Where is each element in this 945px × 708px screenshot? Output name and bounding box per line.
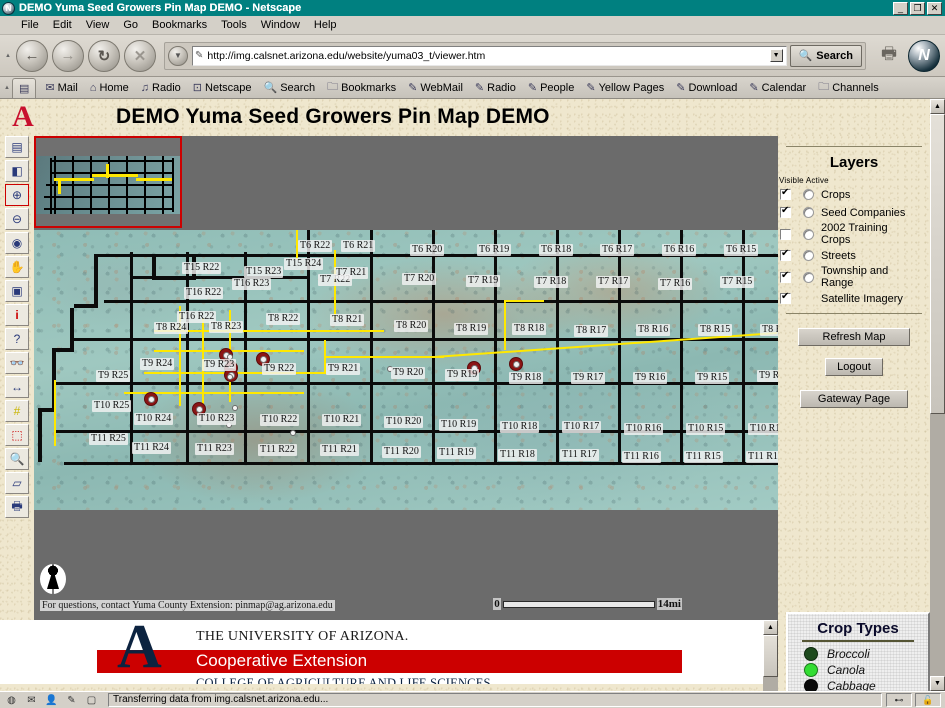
township-label: T11 R21 <box>320 444 359 456</box>
active-radio-2002-training-crops[interactable] <box>803 229 814 240</box>
township-label: T15 R23 <box>244 266 283 278</box>
visible-checkbox-crops[interactable] <box>780 189 791 200</box>
bookmark-icon: ✎ <box>408 81 417 94</box>
visible-checkbox-2002-training-crops[interactable] <box>780 229 791 240</box>
toolbar-item-radio[interactable]: ♫ Radio <box>135 82 187 94</box>
township-label: T11 R20 <box>382 446 421 458</box>
close-button[interactable]: ✕ <box>927 2 942 15</box>
township-label: T6 R20 <box>410 244 444 256</box>
folder-icon: 🗀 <box>818 78 829 97</box>
township-label: T8 R18 <box>512 323 546 335</box>
township-label: T11 R14 <box>746 451 778 463</box>
visible-checkbox-township-and-range[interactable] <box>780 272 791 283</box>
back-icon[interactable]: ← <box>16 40 48 72</box>
print-tool[interactable]: 🖶 <box>5 496 29 518</box>
township-label: T8 R24 <box>154 322 188 334</box>
township-label: T9 R25 <box>96 370 130 382</box>
crop-point-marker[interactable] <box>290 430 296 436</box>
township-label: T10 R19 <box>439 419 478 431</box>
menu-file[interactable]: File <box>14 18 46 32</box>
map-scale-bar: 0 14mi <box>493 598 682 610</box>
page-scroll-up-arrow-icon[interactable]: ▲ <box>930 99 945 114</box>
menu-tools[interactable]: Tools <box>214 18 254 32</box>
status-bar: ◍ ✉ 👤 ✎ ▢ Transferring data from img.cal… <box>0 691 945 708</box>
layer-row-crops: Crops <box>780 186 930 203</box>
toolbar-label: People <box>540 82 574 94</box>
township-label: T8 R14 <box>760 324 778 336</box>
township-label: T9 R16 <box>633 372 667 384</box>
bookmark-icon: ✎ <box>528 81 537 94</box>
township-label: T10 R22 <box>260 414 299 426</box>
gateway-page-button[interactable]: Gateway Page <box>800 390 908 408</box>
layer-tool[interactable]: ◧ <box>5 160 29 182</box>
netscape-status-icon[interactable]: ◍ <box>3 693 20 707</box>
legend-title: Crop Types <box>788 620 928 637</box>
visible-active-header: Visible Active <box>779 176 930 185</box>
page-vertical-scrollbar[interactable]: ▲ ▼ <box>930 99 945 691</box>
layer-row-2002-training-crops: 2002 Training Crops <box>780 222 930 246</box>
scroll-up-arrow-icon[interactable]: ▲ <box>763 620 778 635</box>
find-tool[interactable]: 👓 <box>5 352 29 374</box>
township-label: T10 R25 <box>92 400 131 412</box>
legend-swatch-canola <box>804 663 818 677</box>
toolbar-item-bookmarks[interactable]: 🗀 Bookmarks <box>321 78 402 97</box>
township-label: T10 R16 <box>624 423 663 435</box>
print-icon[interactable]: 🖶 <box>874 41 904 71</box>
panel-divider-bottom <box>786 313 922 314</box>
page-scroll-down-arrow-icon[interactable]: ▼ <box>930 676 945 691</box>
netscape-window: N DEMO Yuma Seed Growers Pin Map DEMO - … <box>0 0 945 708</box>
legend-swatch-cabbage <box>804 679 818 691</box>
township-label: T6 R15 <box>724 244 758 256</box>
township-label: T11 R23 <box>195 443 234 455</box>
toolbar-label: Radio <box>487 82 516 94</box>
university-of-arizona-logo: A <box>6 101 40 133</box>
township-label: T6 R19 <box>477 244 511 256</box>
township-label: T8 R22 <box>266 313 300 325</box>
toolbar-item-netscape[interactable]: ⊡ Netscape <box>187 81 258 94</box>
toolbar-label: Bookmarks <box>341 82 396 94</box>
toolbar-label: WebMail <box>420 82 463 94</box>
sidebar-tab-button[interactable]: ▤ <box>12 78 36 98</box>
township-label: T8 R20 <box>394 320 428 332</box>
personal-toolbar: ▤ ✉ Mail ⌂ Home ♫ Radio ⊡ Netscape 🔍 Sea… <box>0 77 945 99</box>
active-radio-seed-companies[interactable] <box>803 207 814 218</box>
netscape-n-logo[interactable]: N <box>908 40 940 72</box>
seed-company-pin[interactable] <box>144 392 158 406</box>
frame-vertical-scrollbar[interactable]: ▲ ▼ <box>763 620 778 691</box>
township-label: T11 R25 <box>89 433 128 445</box>
search-icon: 🔍 <box>264 81 278 94</box>
map-footnote: For questions, contact Yuma County Exten… <box>40 600 335 611</box>
frame-vscroll-track[interactable] <box>763 635 778 691</box>
menu-bookmarks[interactable]: Bookmarks <box>145 18 214 32</box>
toolbar-item-yellow-pages[interactable]: ✎ Yellow Pages <box>580 81 670 94</box>
township-label: T8 R17 <box>574 325 608 337</box>
township-label: T7 R17 <box>596 276 630 288</box>
page-header: A DEMO Yuma Seed Growers Pin Map DEMO <box>0 99 930 134</box>
township-label: T10 R18 <box>500 421 539 433</box>
layer-row-seed-companies: Seed Companies <box>780 204 930 221</box>
township-label: T10 R14 <box>748 423 778 435</box>
select-feature-tool[interactable]: 🔍 <box>5 448 29 470</box>
page-vscroll-track[interactable] <box>930 114 945 676</box>
legend-divider <box>802 640 914 642</box>
menu-go[interactable]: Go <box>116 18 145 32</box>
legend-label-broccoli: Broccoli <box>827 647 870 661</box>
connection-icon[interactable]: ⊷ <box>886 693 912 707</box>
window-title-bar: N DEMO Yuma Seed Growers Pin Map DEMO - … <box>0 0 945 16</box>
layers-panel: Layers Visible Active Crops Seed Compani… <box>778 136 930 620</box>
township-label: T7 R15 <box>720 276 754 288</box>
search-button[interactable]: 🔍 Search <box>790 45 862 67</box>
search-icon: 🔍 <box>799 49 813 62</box>
bookmark-pencil-icon: ✎ <box>195 50 203 61</box>
personal-toolbar-grip[interactable] <box>2 79 12 97</box>
toolbar-item-download[interactable]: ✎ Download <box>670 81 743 94</box>
window-status-icon[interactable]: ▢ <box>83 693 100 707</box>
township-label: T11 R18 <box>498 449 537 461</box>
township-label: T9 R15 <box>695 372 729 384</box>
menu-view[interactable]: View <box>79 18 117 32</box>
township-label: T9 R21 <box>326 363 360 375</box>
url-history-arrow-icon[interactable]: ▼ <box>770 49 783 62</box>
banner-line-university: THE UNIVERSITY OF ARIZONA. <box>196 629 409 645</box>
township-label: T8 R23 <box>209 321 243 333</box>
township-label: T6 R22 <box>298 240 332 252</box>
layer-label-crops[interactable]: Crops <box>821 189 850 201</box>
legend-item-broccoli: Broccoli <box>788 646 928 662</box>
legend-label-cabbage: Cabbage <box>827 679 876 691</box>
web-page-content: A DEMO Yuma Seed Growers Pin Map DEMO ▤ … <box>0 99 945 691</box>
township-label: T9 R14 <box>757 370 778 382</box>
navigation-toolbar: ← → ↻ ✕ ▼ ✎ http://img.calsnet.arizona.e… <box>0 35 945 77</box>
bookmark-icon: ✎ <box>749 81 758 94</box>
netscape-icon: N <box>2 2 15 15</box>
crop-point-marker[interactable] <box>227 374 233 380</box>
township-label: T10 R23 <box>197 413 236 425</box>
layer-label-township-and-range[interactable]: Township and Range <box>821 265 907 289</box>
location-bar: ▼ ✎ http://img.calsnet.arizona.edu/websi… <box>164 42 866 70</box>
township-label: T15 R24 <box>284 258 323 270</box>
toolbar-item-calendar[interactable]: ✎ Calendar <box>743 81 812 94</box>
township-label: T11 R24 <box>132 442 171 454</box>
toolbar-label: Calendar <box>762 82 807 94</box>
map-canvas[interactable]: T6 R22T6 R21T6 R20T6 R19T6 R18T6 R17T6 R… <box>34 136 778 620</box>
page-title: DEMO Yuma Seed Growers Pin Map DEMO <box>116 105 550 129</box>
township-label: T9 R23 <box>202 359 236 371</box>
toolbar-label: Radio <box>152 82 181 94</box>
ua-block-a-logo: A <box>117 620 162 678</box>
township-label: T10 R20 <box>384 416 423 428</box>
active-radio-streets[interactable] <box>803 250 814 261</box>
toolbar-label: Yellow Pages <box>599 82 665 94</box>
visible-checkbox-streets[interactable] <box>780 250 791 261</box>
query-tool[interactable]: ? <box>5 328 29 350</box>
menu-help[interactable]: Help <box>307 18 344 32</box>
home-icon: ⌂ <box>90 82 97 94</box>
mail-icon: ✉ <box>45 81 54 94</box>
township-label: T6 R16 <box>662 244 696 256</box>
legend-item-canola: Canola <box>788 662 928 678</box>
pan-zoom-tool[interactable]: ◉ <box>5 232 29 254</box>
township-label: T10 R17 <box>562 421 601 433</box>
grid-tool[interactable]: # <box>5 400 29 422</box>
satellite-imagery-layer: T6 R22T6 R21T6 R20T6 R19T6 R18T6 R17T6 R… <box>34 230 778 510</box>
scale-bar-graphic <box>503 601 655 608</box>
toolbar-item-people[interactable]: ✎ People <box>522 81 580 94</box>
toolbar-item-home[interactable]: ⌂ Home <box>84 82 135 94</box>
toolbar-item-search[interactable]: 🔍 Search <box>258 81 322 94</box>
menu-bar: File Edit View Go Bookmarks Tools Window… <box>0 16 945 35</box>
township-label: T10 R21 <box>322 414 361 426</box>
township-label: T6 R18 <box>539 244 573 256</box>
legend-swatch-broccoli <box>804 647 818 661</box>
township-label: T9 R22 <box>262 363 296 375</box>
reload-icon[interactable]: ↻ <box>88 40 120 72</box>
active-radio-crops[interactable] <box>803 189 814 200</box>
radio-icon: ♫ <box>141 82 149 94</box>
layer-row-satellite-imagery: Satellite Imagery <box>780 290 930 307</box>
pan-hand-tool[interactable]: ✋ <box>5 256 29 278</box>
township-label: T16 R23 <box>232 278 271 290</box>
minimize-button[interactable]: _ <box>893 2 908 15</box>
navbar-grip[interactable] <box>2 41 14 71</box>
erase-tool[interactable]: ▱ <box>5 472 29 494</box>
crop-types-legend: Crop Types Broccoli Canola Cabbage Cauli… <box>786 612 930 691</box>
layers-title: Layers <box>778 154 930 171</box>
logout-button[interactable]: Logout <box>825 358 883 376</box>
township-label: T9 R20 <box>391 367 425 379</box>
select-box-tool[interactable]: ⬚ <box>5 424 29 446</box>
township-label: T7 R18 <box>534 276 568 288</box>
legend-tool[interactable]: ▤ <box>5 136 29 158</box>
township-label: T8 R21 <box>330 314 364 326</box>
toolbar-item-mail[interactable]: ✉ Mail <box>39 81 83 94</box>
note-tool[interactable]: ▣ <box>5 280 29 302</box>
status-message: Transferring data from img.calsnet.arizo… <box>108 693 882 707</box>
menu-edit[interactable]: Edit <box>46 18 79 32</box>
person-status-icon[interactable]: 👤 <box>43 693 60 707</box>
visible-column-label: Visible <box>779 176 804 185</box>
visible-checkbox-seed-companies[interactable] <box>780 207 791 218</box>
township-label: T8 R16 <box>636 324 670 336</box>
township-label: T11 R15 <box>684 451 723 463</box>
my-netscape-icon: ⊡ <box>193 81 202 94</box>
township-label: T9 R24 <box>140 358 174 370</box>
scale-max-label: 14mi <box>657 598 682 610</box>
bookmark-icon: ✎ <box>676 81 685 94</box>
refresh-map-button[interactable]: Refresh Map <box>798 328 910 346</box>
legend-item-cabbage: Cabbage <box>788 678 928 691</box>
ua-cooperative-extension-banner: A THE UNIVERSITY OF ARIZONA. Cooperative… <box>0 620 778 684</box>
township-label: T6 R21 <box>341 240 375 252</box>
township-label: T9 R17 <box>571 372 605 384</box>
township-label: T7 R16 <box>658 278 692 290</box>
window-title: DEMO Yuma Seed Growers Pin Map DEMO - Ne… <box>19 2 893 14</box>
url-text: http://img.calsnet.arizona.edu/website/y… <box>207 50 769 62</box>
panel-divider-top <box>786 146 922 147</box>
township-label: T15 R22 <box>182 262 221 274</box>
active-radio-township-and-range[interactable] <box>803 272 814 283</box>
zoom-out-tool[interactable]: ⊖ <box>5 208 29 230</box>
security-lock-icon[interactable]: 🔓 <box>915 693 941 707</box>
page-vscroll-thumb[interactable] <box>930 114 945 414</box>
search-button-label: Search <box>816 50 853 62</box>
township-label: T7 R19 <box>466 275 500 287</box>
township-label: T8 R19 <box>454 323 488 335</box>
identify-tool[interactable]: i <box>5 304 29 326</box>
township-label: T6 R17 <box>600 244 634 256</box>
north-arrow-icon <box>40 564 66 594</box>
township-label: T8 R15 <box>698 324 732 336</box>
layer-label-seed-companies[interactable]: Seed Companies <box>821 207 905 219</box>
bookmark-icon: ✎ <box>586 81 595 94</box>
toolbar-label: Netscape <box>205 82 251 94</box>
active-column-label: Active <box>806 176 829 185</box>
scale-min-label: 0 <box>493 598 501 610</box>
overview-image <box>36 156 182 214</box>
zoom-in-tool[interactable]: ⊕ <box>5 184 29 206</box>
menu-window[interactable]: Window <box>254 18 307 32</box>
township-label: T16 R22 <box>184 287 223 299</box>
seed-company-pin[interactable] <box>509 357 523 371</box>
location-dropdown-icon[interactable]: ▼ <box>168 46 188 66</box>
overview-map[interactable] <box>34 136 182 228</box>
forward-icon[interactable]: → <box>52 40 84 72</box>
banner-red-bar <box>97 650 682 673</box>
layer-label-satellite-imagery[interactable]: Satellite Imagery <box>821 293 903 305</box>
visible-checkbox-satellite-imagery[interactable] <box>780 293 791 304</box>
township-label: T10 R24 <box>134 413 173 425</box>
stop-icon[interactable]: ✕ <box>124 40 156 72</box>
toolbar-label: Mail <box>58 82 78 94</box>
township-label: T7 R21 <box>334 267 368 279</box>
toolbar-label: Home <box>99 82 128 94</box>
restore-button[interactable]: ❐ <box>910 2 925 15</box>
sidebar-icon: ▤ <box>19 82 29 95</box>
township-label: T11 R16 <box>622 451 661 463</box>
composer-status-icon[interactable]: ✎ <box>63 693 80 707</box>
frame-vscroll-thumb[interactable] <box>763 635 778 677</box>
url-input[interactable]: ✎ http://img.calsnet.arizona.edu/website… <box>192 46 787 66</box>
toolbar-item-channels[interactable]: 🗀 Channels <box>812 78 884 97</box>
toolbar-label: Channels <box>832 82 878 94</box>
township-label: T11 R19 <box>437 447 476 459</box>
crop-point-marker[interactable] <box>232 405 238 411</box>
legend-label-canola: Canola <box>827 663 865 677</box>
map-tool-palette: ▤ ◧ ⊕ ⊖ ◉ ✋ ▣ i ? 👓 ↔ # ⬚ 🔍 ▱ 🖶 <box>5 136 31 518</box>
measure-tool[interactable]: ↔ <box>5 376 29 398</box>
bookmark-icon: ✎ <box>475 81 484 94</box>
township-label: T7 R20 <box>402 273 436 285</box>
layer-row-township-and-range: Township and Range <box>780 265 930 289</box>
township-label: T11 R17 <box>560 449 599 461</box>
toolbar-label: Search <box>280 82 315 94</box>
window-controls: _ ❐ ✕ <box>893 2 942 15</box>
banner-line-cooperative-extension: Cooperative Extension <box>196 651 367 671</box>
mail-status-icon[interactable]: ✉ <box>23 693 40 707</box>
toolbar-item-radio2[interactable]: ✎ Radio <box>469 81 522 94</box>
folder-icon: 🗀 <box>327 78 338 97</box>
township-label: T9 R19 <box>445 369 479 381</box>
toolbar-label: Download <box>688 82 737 94</box>
township-label: T10 R15 <box>686 423 725 435</box>
township-label: T9 R18 <box>509 372 543 384</box>
township-label: T11 R22 <box>258 444 297 456</box>
layer-label-2002-training-crops[interactable]: 2002 Training Crops <box>821 222 907 246</box>
toolbar-item-webmail[interactable]: ✎ WebMail <box>402 81 469 94</box>
layer-label-streets[interactable]: Streets <box>821 250 856 262</box>
footer-frame: A THE UNIVERSITY OF ARIZONA. Cooperative… <box>0 620 778 684</box>
banner-line-college: COLLEGE OF AGRICULTURE AND LIFE SCIENCES <box>196 676 491 684</box>
layer-row-streets: Streets <box>780 247 930 264</box>
status-right-icons: ⊷ 🔓 <box>886 693 941 707</box>
